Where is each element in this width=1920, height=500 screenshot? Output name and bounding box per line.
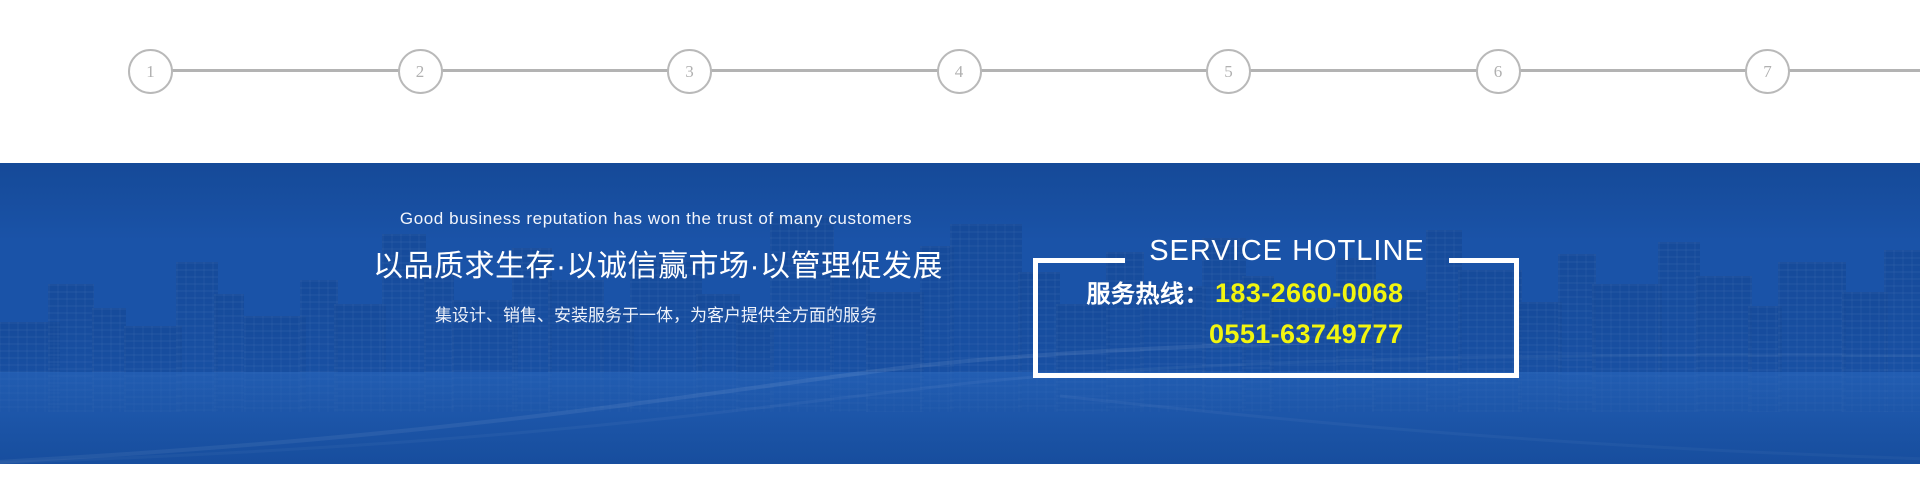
skyline-tower	[300, 280, 338, 412]
pager-step-6[interactable]: 6	[1476, 49, 1521, 94]
skyline-tower	[214, 294, 244, 412]
pager-step-7[interactable]: 7	[1745, 49, 1790, 94]
skyline-tower	[1842, 292, 1888, 412]
pager-step-label: 4	[955, 63, 964, 80]
hotline-number-mobile[interactable]: 183-2660-0068	[1215, 280, 1403, 307]
pager-step-3[interactable]: 3	[667, 49, 712, 94]
skyline-tower	[48, 284, 94, 412]
skyline-tower	[1558, 254, 1596, 412]
pager-step-label: 3	[685, 63, 694, 80]
promo-banner: Good business reputation has won the tru…	[0, 163, 1920, 464]
skyline-tower	[124, 326, 182, 412]
city-skyline-background	[0, 182, 1920, 412]
pager-step-label: 1	[146, 63, 155, 80]
skyline-tower	[244, 316, 306, 412]
skyline-tower	[950, 224, 1022, 412]
pager-step-list: 1 2 3 4 5 6 7	[128, 48, 1790, 94]
hotline-number-landline[interactable]: 0551-63749777	[1209, 321, 1403, 348]
pager-step-2[interactable]: 2	[398, 49, 443, 94]
pager-step-5[interactable]: 5	[1206, 49, 1251, 94]
pager-step-4[interactable]: 4	[937, 49, 982, 94]
skyline-tower	[1518, 302, 1562, 412]
slogan-headline: 以品质求生存·以诚信赢市场·以管理促发展	[373, 248, 939, 286]
pagination-strip: 1 2 3 4 5 6 7	[0, 0, 1920, 163]
skyline-tower	[1592, 284, 1662, 412]
pager-step-label: 6	[1494, 63, 1503, 80]
bottom-white-strip	[0, 464, 1920, 500]
ground-plane-background	[0, 372, 1920, 464]
pager-step-label: 2	[416, 63, 425, 80]
slogan-english: Good business reputation has won the tru…	[373, 209, 939, 229]
skyline-tower	[92, 308, 126, 412]
road-curve-background	[0, 344, 1920, 464]
skyline-tower	[1658, 242, 1700, 412]
skyline-tower	[1884, 250, 1920, 412]
hotline-title: SERVICE HOTLINE	[1125, 237, 1449, 266]
pager-step-1[interactable]: 1	[128, 49, 173, 94]
page-step-indicator: 1 2 3 4 5 6 7	[128, 48, 1920, 94]
skyline-tower	[0, 322, 60, 412]
hotline-row-secondary: 0551-63749777	[1033, 321, 1519, 348]
pager-step-label: 5	[1224, 63, 1233, 80]
slogan-block: Good business reputation has won the tru…	[373, 209, 939, 327]
skyline-tower	[1696, 276, 1752, 412]
service-hotline-box: SERVICE HOTLINE 服务热线： 183-2660-0068 0551…	[1033, 258, 1519, 378]
skyline-tower	[176, 262, 218, 412]
hotline-number-list: 服务热线： 183-2660-0068 0551-63749777	[1033, 280, 1519, 348]
skyline-tower	[736, 316, 774, 412]
hotline-row-primary: 服务热线： 183-2660-0068	[1033, 280, 1519, 307]
skyline-tower	[1778, 262, 1846, 412]
hotline-border-top-right	[1449, 258, 1519, 263]
hotline-border-bottom	[1033, 373, 1519, 378]
hotline-label: 服务热线：	[1033, 283, 1215, 307]
slogan-subtext: 集设计、销售、安装服务于一体，为客户提供全方面的服务	[373, 305, 939, 327]
banner-gradient-overlay	[0, 163, 1920, 464]
pager-step-label: 7	[1763, 63, 1772, 80]
skyline-tower	[1748, 306, 1782, 412]
hotline-border-top-left	[1033, 258, 1125, 263]
